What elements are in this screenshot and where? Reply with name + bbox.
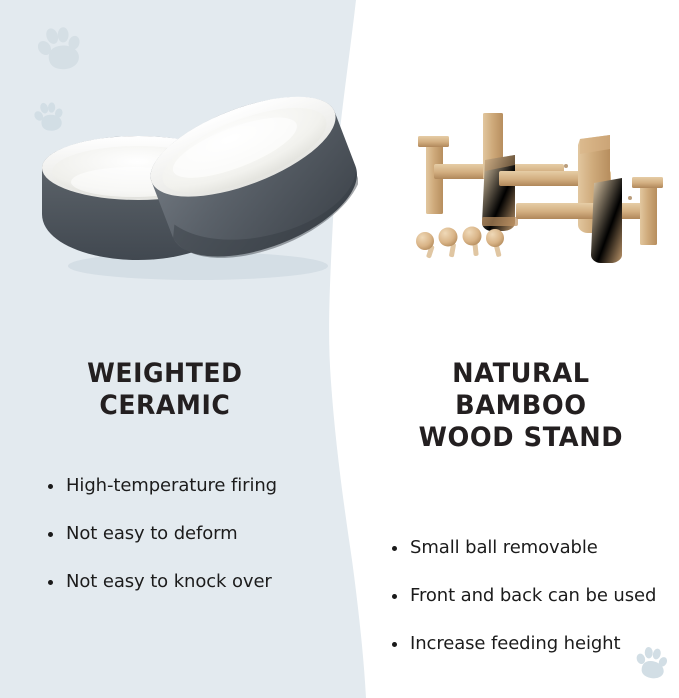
bullet-dot-icon <box>392 642 397 647</box>
right-feature-list: Small ball removable Front and back can … <box>392 536 674 655</box>
stand-peg-hole-2 <box>628 196 632 200</box>
stand-peg-hole-1 <box>564 164 568 168</box>
bamboo-stand-product-image <box>404 105 679 275</box>
feature-text: Small ball removable <box>410 536 598 559</box>
feature-text: Increase feeding height <box>410 632 620 655</box>
right-panel-heading: NATURAL BAMBOO WOOD STAND <box>386 358 656 454</box>
left-feature-list: High-temperature firing Not easy to defo… <box>48 474 330 593</box>
stand-rail-lower <box>516 203 656 219</box>
bullet-dot-icon <box>392 546 397 551</box>
right-text-column: NATURAL BAMBOO WOOD STAND Small ball rem… <box>386 358 674 680</box>
list-item: Not easy to deform <box>48 522 330 545</box>
list-item: Increase feeding height <box>392 632 674 655</box>
feature-text: Not easy to deform <box>66 522 238 545</box>
stand-cradle-right <box>591 178 622 263</box>
wooden-ball-peg <box>463 227 482 257</box>
wooden-ball-pegs-group <box>416 227 504 259</box>
wooden-ball-peg <box>486 229 504 257</box>
bullet-dot-icon <box>392 594 397 599</box>
wooden-ball-peg <box>416 232 435 259</box>
product-infographic: WEIGHTED CERAMIC High-temperature firing… <box>0 0 679 698</box>
left-panel-heading: WEIGHTED CERAMIC <box>30 358 300 422</box>
ceramic-bowls-product-image <box>28 46 358 296</box>
list-item: Small ball removable <box>392 536 674 559</box>
bullet-dot-icon <box>48 532 53 537</box>
left-text-column: WEIGHTED CERAMIC High-temperature firing… <box>30 358 330 618</box>
bullet-dot-icon <box>48 580 53 585</box>
bullet-dot-icon <box>48 484 53 489</box>
feature-text: Front and back can be used <box>410 584 656 607</box>
wooden-ball-peg <box>439 228 458 258</box>
list-item: Not easy to knock over <box>48 570 330 593</box>
stand-post-right-front <box>640 183 657 245</box>
list-item: High-temperature firing <box>48 474 330 497</box>
stand-cradle-left <box>482 155 518 231</box>
feature-text: High-temperature firing <box>66 474 277 497</box>
feature-text: Not easy to knock over <box>66 570 272 593</box>
list-item: Front and back can be used <box>392 584 674 607</box>
